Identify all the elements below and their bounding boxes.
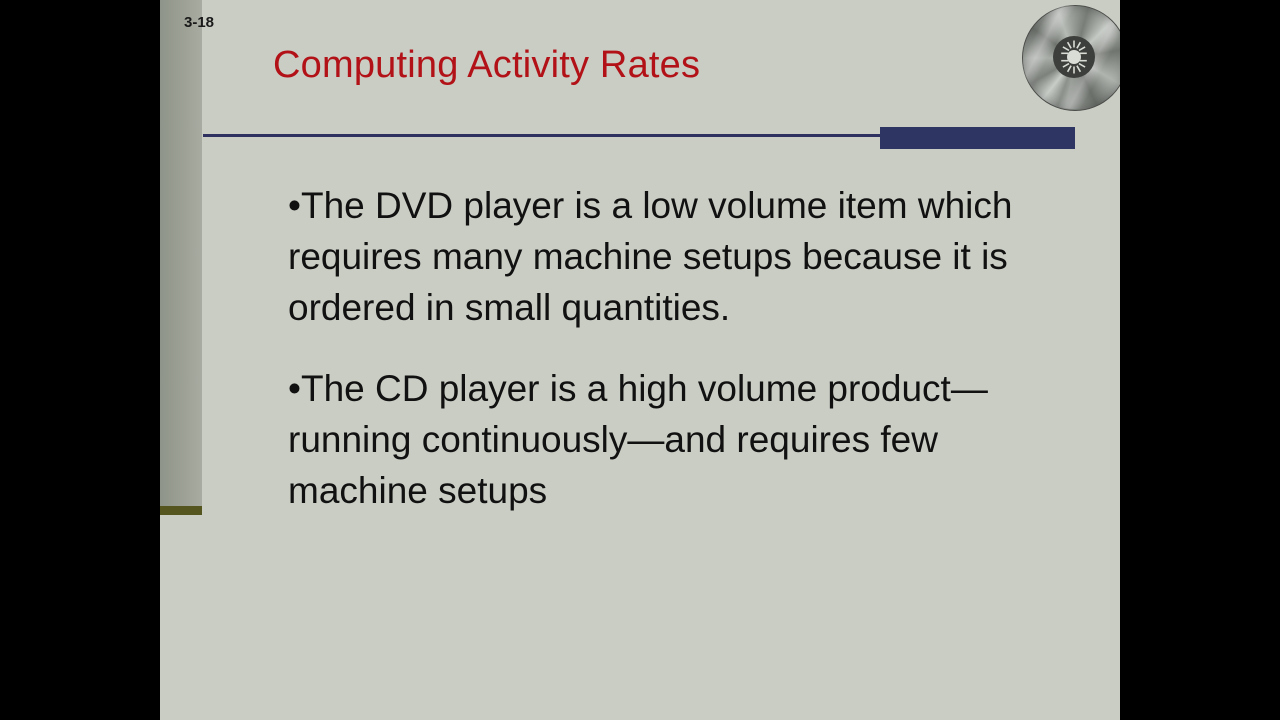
bullet-text: The DVD player is a low volume item whic… bbox=[288, 185, 1012, 328]
disc-center-hole bbox=[1067, 50, 1081, 64]
bullet-item: •The CD player is a high volume product—… bbox=[288, 363, 1018, 516]
slide-body: •The DVD player is a low volume item whi… bbox=[288, 180, 1018, 516]
letterbox-left bbox=[0, 0, 160, 720]
slide-canvas: 3-18 Computing Activity Rates bbox=[160, 0, 1120, 720]
bullet-marker-icon: • bbox=[288, 185, 301, 226]
slide-number: 3-18 bbox=[184, 14, 214, 31]
compact-disc-icon bbox=[1022, 5, 1120, 113]
title-rule-end-block bbox=[880, 127, 1075, 149]
bullet-item: •The DVD player is a low volume item whi… bbox=[288, 180, 1018, 333]
bullet-text: The CD player is a high volume product—r… bbox=[288, 368, 988, 511]
accent-strip bbox=[160, 0, 202, 512]
presentation-viewport: 3-18 Computing Activity Rates bbox=[0, 0, 1280, 720]
accent-strip-cap bbox=[160, 506, 202, 515]
page-title: Computing Activity Rates bbox=[273, 44, 700, 87]
bullet-marker-icon: • bbox=[288, 368, 301, 409]
letterbox-right bbox=[1120, 0, 1280, 720]
